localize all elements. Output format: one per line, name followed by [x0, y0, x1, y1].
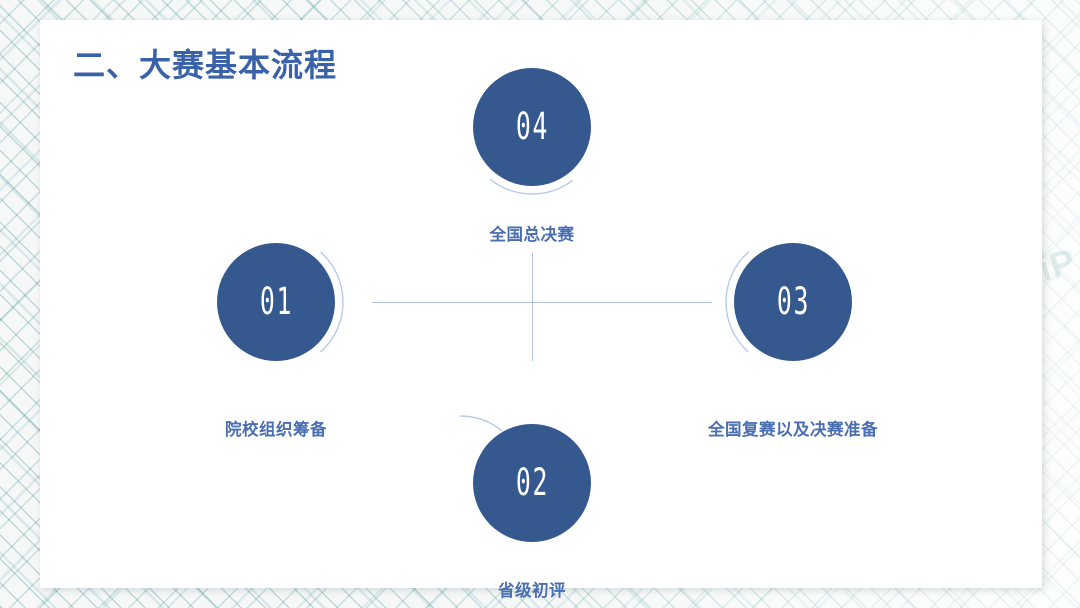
connector-line-horizontal [372, 302, 712, 303]
flow-node-label: 院校组织筹备 [225, 416, 327, 440]
flow-node-number: 03 [776, 283, 811, 321]
flow-node-circle[interactable]: 02 [473, 424, 591, 542]
process-flow-diagram: 04 全国总决赛 01 院校组织筹备 03 [40, 20, 1042, 588]
flow-node-label: 全国复赛以及决赛准备 [708, 416, 878, 440]
slide-canvas: UiP 二、大赛基本流程 04 全国总决赛 [0, 0, 1080, 608]
flow-node-circle[interactable]: 04 [473, 68, 591, 186]
flow-node-number: 01 [259, 283, 294, 321]
flow-node-circle[interactable]: 01 [217, 243, 335, 361]
flow-node-number: 02 [515, 464, 550, 502]
slide-content-card: 二、大赛基本流程 04 全国总决赛 01 [40, 20, 1042, 588]
connector-line-vertical [532, 253, 533, 361]
flow-node-label: 全国总决赛 [490, 221, 575, 245]
flow-node-label: 省级初评 [498, 577, 566, 601]
flow-node-circle[interactable]: 03 [734, 243, 852, 361]
flow-node-number: 04 [515, 108, 550, 146]
